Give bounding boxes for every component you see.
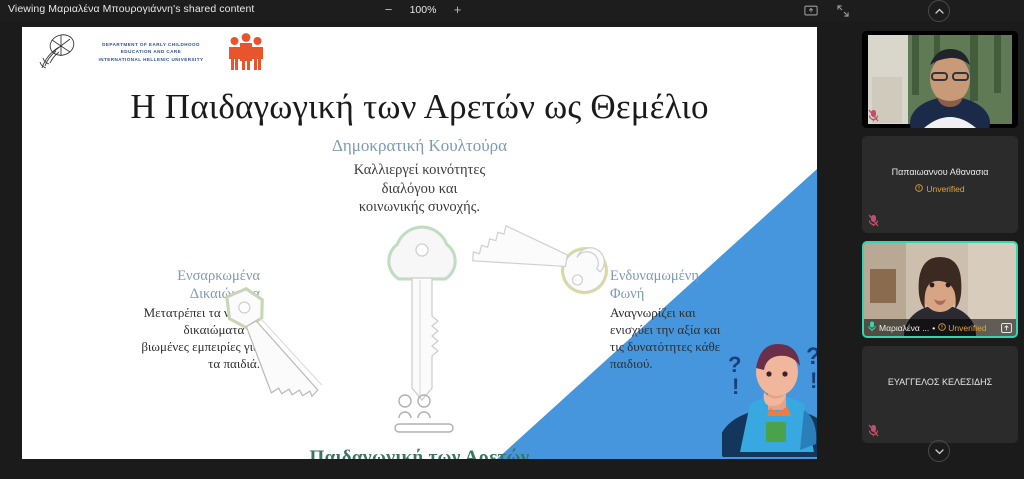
slide-title: Η Παιδαγωγική των Αρετών ως Θεμέλιο [22, 87, 817, 127]
viewing-title: Viewing Μαριαλένα Μπουρογιάννη's shared … [8, 3, 254, 15]
family-icon [226, 33, 266, 71]
caption-separator: • [932, 323, 935, 333]
unverified-label-1: Unverified [926, 184, 964, 194]
slide-logo-header: Department of Early Childhood Education … [36, 32, 266, 72]
zoom-out-button[interactable]: − [382, 2, 395, 18]
screen-share-icon [1001, 323, 1012, 333]
participant-name-1: Παπαιωαννου Αθανασια [862, 166, 1018, 178]
zoom-in-button[interactable]: + [451, 2, 464, 18]
participant-name-3: ΕΥΑΓΓΕΛΟΣ ΚΕΛΕΣΙΔΗΣ [862, 376, 1018, 388]
participant-caption-2: Μαριαλένα ... • Unverified [864, 319, 1016, 336]
slide-subtitle: Δημοκρατική Κουλτούρα [22, 136, 817, 156]
unverified-warning-icon [915, 184, 923, 194]
university-emblem-icon [36, 32, 80, 72]
logo-text-block: Department of Early Childhood Education … [92, 41, 210, 64]
logo-line-3: International Hellenic University [98, 57, 203, 62]
logo-line-1: Department of Early Childhood [102, 42, 200, 47]
mic-off-icon [868, 424, 879, 437]
participant-video-0 [862, 31, 1018, 128]
svg-text:?: ? [806, 343, 817, 370]
slide-lead-text: Καλλιεργεί κοινότητεςδιαλόγου καικοινωνι… [22, 161, 817, 217]
participant-tile-1[interactable]: Παπαιωαννου Αθανασια Unverified [862, 136, 1018, 233]
svg-text:!: ! [732, 374, 739, 399]
screen-share-icon[interactable] [804, 4, 818, 18]
participant-rail: Παπαιωαννου Αθανασια Unverified [862, 27, 1018, 457]
titlebar-actions [804, 4, 850, 18]
title-bar: Viewing Μαριαλένα Μπουρογιάννη's shared … [0, 0, 1024, 22]
participant-tile-0[interactable] [862, 31, 1018, 128]
shared-content-slide[interactable]: Department of Early Childhood Education … [22, 27, 817, 459]
participant-name-2: Μαριαλένα ... [879, 323, 929, 333]
logo-line-2: Education and Care [121, 49, 181, 54]
unverified-badge-2: Unverified [938, 323, 986, 333]
zoom-controls: − 100% + [382, 2, 464, 18]
participants-scroll-down-button[interactable] [928, 440, 950, 462]
unverified-warning-icon [938, 323, 946, 333]
mic-off-icon [868, 214, 879, 227]
mic-on-icon [868, 321, 876, 334]
participant-tile-3[interactable]: ΕΥΑΓΓΕΛΟΣ ΚΕΛΕΣΙΔΗΣ [862, 346, 1018, 443]
participant-tile-2-active-speaker[interactable]: Μαριαλένα ... • Unverified [862, 241, 1018, 338]
thinking-person-illustration-icon: ? ! ? ! [722, 332, 817, 457]
keys-illustration-icon [192, 222, 652, 457]
meeting-window: Viewing Μαριαλένα Μπουρογιάννη's shared … [0, 0, 1024, 479]
svg-text:!: ! [810, 368, 817, 393]
participants-scroll-up-button[interactable] [928, 0, 950, 22]
unverified-label-2: Unverified [948, 323, 986, 333]
unverified-badge-1: Unverified [862, 184, 1018, 194]
mic-off-icon [868, 109, 879, 122]
zoom-level-label: 100% [408, 4, 438, 16]
expand-icon[interactable] [836, 4, 850, 18]
